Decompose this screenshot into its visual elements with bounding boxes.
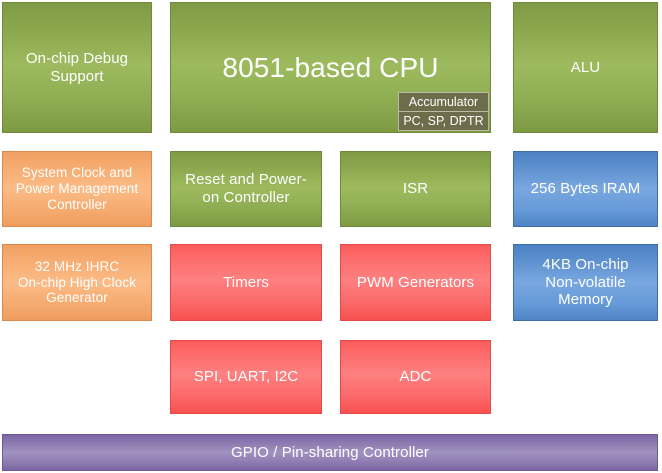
block-label-pwm-generators: PWM Generators bbox=[353, 274, 478, 292]
block-label-on-chip-debug-support: On-chip Debug Support bbox=[22, 50, 132, 85]
register-row-accumulator: Accumulator bbox=[399, 93, 488, 112]
block-label-isr: ISR bbox=[399, 180, 432, 198]
block-4kb-on-chip-non-volatile-memory[interactable]: 4KB On-chip Non-volatile Memory bbox=[513, 244, 658, 321]
register-row-pointers: PC, SP, DPTR bbox=[399, 112, 488, 131]
register-label-pointers: PC, SP, DPTR bbox=[403, 114, 483, 128]
block-label-reset-and-power-on-controller: Reset and Power- on Controller bbox=[181, 171, 311, 206]
block-label-256-bytes-iram: 256 Bytes IRAM bbox=[527, 180, 645, 198]
block-system-clock-and-power-management-controller[interactable]: System Clock and Power Management Contro… bbox=[2, 151, 152, 227]
cpu-register-inset: Accumulator PC, SP, DPTR bbox=[398, 92, 489, 131]
block-label-gpio-pin-sharing-controller: GPIO / Pin-sharing Controller bbox=[227, 444, 433, 462]
block-alu[interactable]: ALU bbox=[513, 2, 658, 133]
block-label-timers: Timers bbox=[219, 274, 273, 292]
register-label-accumulator: Accumulator bbox=[409, 95, 478, 109]
block-label-alu: ALU bbox=[567, 59, 604, 77]
block-label-spi-uart-i2c: SPI, UART, I2C bbox=[190, 368, 303, 386]
block-reset-and-power-on-controller[interactable]: Reset and Power- on Controller bbox=[170, 151, 322, 227]
block-timers[interactable]: Timers bbox=[170, 244, 322, 321]
block-label-adc: ADC bbox=[396, 368, 436, 386]
block-32mhz-ihrc-clock-generator[interactable]: 32 MHz IHRC On-chip High Clock Generator bbox=[2, 244, 152, 321]
block-on-chip-debug-support[interactable]: On-chip Debug Support bbox=[2, 2, 152, 133]
block-label-4kb-on-chip-non-volatile-memory: 4KB On-chip Non-volatile Memory bbox=[538, 256, 632, 309]
block-label-system-clock-and-power-management-controller: System Clock and Power Management Contro… bbox=[12, 165, 142, 213]
block-256-bytes-iram[interactable]: 256 Bytes IRAM bbox=[513, 151, 658, 227]
block-spi-uart-i2c[interactable]: SPI, UART, I2C bbox=[170, 340, 322, 414]
block-label-32mhz-ihrc-clock-generator: 32 MHz IHRC On-chip High Clock Generator bbox=[14, 259, 140, 307]
block-isr[interactable]: ISR bbox=[340, 151, 491, 227]
block-gpio-pin-sharing-controller[interactable]: GPIO / Pin-sharing Controller bbox=[2, 434, 658, 471]
block-pwm-generators[interactable]: PWM Generators bbox=[340, 244, 491, 321]
block-adc[interactable]: ADC bbox=[340, 340, 491, 414]
block-diagram: On-chip Debug Support 8051-based CPU ALU… bbox=[0, 0, 662, 473]
block-label-8051-based-cpu: 8051-based CPU bbox=[218, 51, 442, 84]
